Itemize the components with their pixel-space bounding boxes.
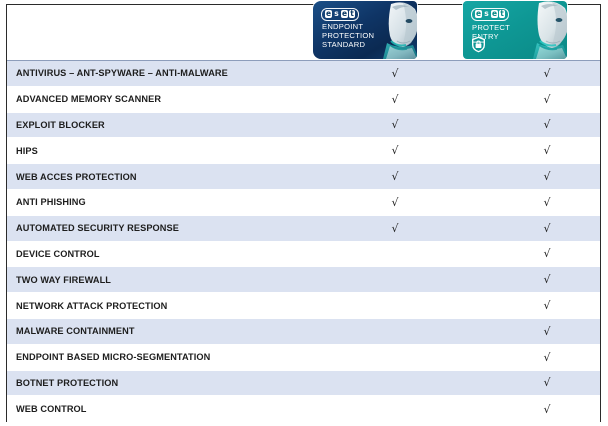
cell-protect-entry: √: [487, 94, 608, 105]
table-row: HIPS √ √: [7, 138, 600, 164]
cell-endpoint-protection-standard: √: [339, 197, 487, 208]
cell-protect-entry: √: [487, 352, 608, 363]
product-comparison-screenshot: e s e t ENDPOINT PROTECTION STANDARD: [0, 0, 608, 426]
feature-label: MALWARE CONTAINMENT: [7, 326, 339, 336]
cell-endpoint-protection-standard: √: [339, 223, 487, 234]
feature-label: ANTI PHISHING: [7, 197, 339, 207]
feature-rows: ANTIVIRUS – ANT-SPYWARE – ANTI-MALWARE √…: [7, 61, 600, 422]
feature-label: NETWORK ATTACK PROTECTION: [7, 301, 339, 311]
feature-label: HIPS: [7, 146, 339, 156]
feature-label: WEB CONTROL: [7, 404, 339, 414]
eset-logo-letter-e2: e: [341, 10, 348, 18]
table-row: DEVICE CONTROL √: [7, 242, 600, 268]
cell-endpoint-protection-standard: √: [339, 171, 487, 182]
cell-protect-entry: √: [487, 68, 608, 79]
table-row: NETWORK ATTACK PROTECTION √: [7, 293, 600, 319]
feature-label: DEVICE CONTROL: [7, 249, 339, 259]
feature-label: EXPLOIT BLOCKER: [7, 120, 339, 130]
table-row: MALWARE CONTAINMENT √: [7, 319, 600, 345]
android-face-icon-endpoint-protection-standard: [373, 1, 417, 59]
cell-endpoint-protection-standard: √: [339, 119, 487, 130]
cell-protect-entry: √: [487, 223, 608, 234]
cell-protect-entry: √: [487, 300, 608, 311]
cell-protect-entry: √: [487, 145, 608, 156]
eset-logo-letter-s: s: [333, 10, 340, 18]
eset-logo-protect-entry: e s e t: [471, 8, 509, 21]
cell-protect-entry: √: [487, 197, 608, 208]
product-box-endpoint-protection-standard: e s e t ENDPOINT PROTECTION STANDARD: [313, 1, 417, 59]
table-row: BOTNET PROTECTION √: [7, 371, 600, 397]
table-row: ENDPOINT BASED MICRO-SEGMENTATION √: [7, 345, 600, 371]
cell-endpoint-protection-standard: √: [339, 68, 487, 79]
table-row: ANTIVIRUS – ANT-SPYWARE – ANTI-MALWARE √…: [7, 61, 600, 87]
eset-logo-letter-t: t: [349, 10, 355, 18]
table-row: EXPLOIT BLOCKER √ √: [7, 113, 600, 139]
table-header-row: e s e t ENDPOINT PROTECTION STANDARD: [7, 5, 600, 61]
cell-endpoint-protection-standard: √: [339, 145, 487, 156]
product-box-protect-entry: e s e t PROTECT ENTRY: [463, 1, 567, 59]
feature-label: ADVANCED MEMORY SCANNER: [7, 94, 339, 104]
cell-protect-entry: √: [487, 326, 608, 337]
product-name-endpoint-protection-standard: ENDPOINT PROTECTION STANDARD: [322, 22, 374, 50]
eset-logo-letter-e1: e: [475, 10, 482, 18]
feature-label: AUTOMATED SECURITY RESPONSE: [7, 223, 339, 233]
cell-protect-entry: √: [487, 248, 608, 259]
column-header-protect-entry[interactable]: e s e t PROTECT ENTRY: [463, 1, 567, 59]
cell-protect-entry: √: [487, 171, 608, 182]
feature-label: TWO WAY FIREWALL: [7, 275, 339, 285]
table-row: ADVANCED MEMORY SCANNER √ √: [7, 87, 600, 113]
cell-endpoint-protection-standard: √: [339, 94, 487, 105]
table-row: ANTI PHISHING √ √: [7, 190, 600, 216]
column-header-endpoint-protection-standard[interactable]: e s e t ENDPOINT PROTECTION STANDARD: [313, 1, 417, 59]
feature-label: ENDPOINT BASED MICRO-SEGMENTATION: [7, 352, 339, 362]
eset-logo-letter-e2: e: [491, 10, 498, 18]
eset-logo-endpoint-protection-standard: e s e t: [321, 8, 359, 21]
feature-label: BOTNET PROTECTION: [7, 378, 339, 388]
cell-protect-entry: √: [487, 377, 608, 388]
shield-lock-icon: [471, 36, 486, 53]
eset-logo-letter-t: t: [499, 10, 505, 18]
feature-label: WEB ACCES PROTECTION: [7, 172, 339, 182]
table-row: AUTOMATED SECURITY RESPONSE √ √: [7, 216, 600, 242]
feature-label: ANTIVIRUS – ANT-SPYWARE – ANTI-MALWARE: [7, 68, 339, 78]
cell-protect-entry: √: [487, 119, 608, 130]
android-face-icon-protect-entry: [523, 1, 567, 59]
cell-protect-entry: √: [487, 404, 608, 415]
cell-protect-entry: √: [487, 274, 608, 285]
table-row: WEB ACCES PROTECTION √ √: [7, 164, 600, 190]
table-row: TWO WAY FIREWALL √: [7, 267, 600, 293]
eset-logo-letter-e1: e: [325, 10, 332, 18]
eset-logo-letter-s: s: [483, 10, 490, 18]
table-row: WEB CONTROL √: [7, 396, 600, 422]
comparison-table: e s e t ENDPOINT PROTECTION STANDARD: [6, 4, 601, 422]
